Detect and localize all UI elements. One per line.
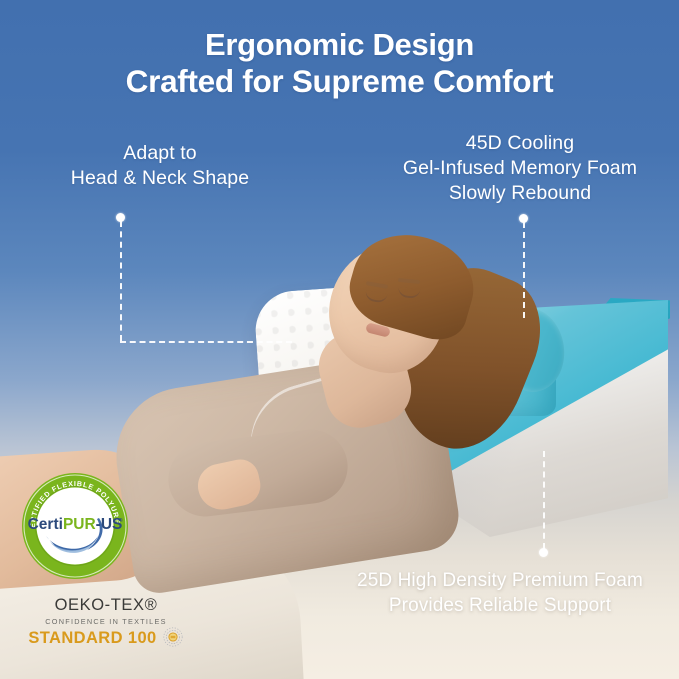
callout-cooling-gel-foam: 45D Cooling Gel-Infused Memory Foam Slow… — [372, 131, 668, 206]
headline-line-1: Ergonomic Design — [0, 26, 679, 63]
callout-right-line-3: Slowly Rebound — [372, 181, 668, 206]
callout-left-line-1: Adapt to — [30, 141, 290, 166]
leader-dot-bottom — [539, 548, 548, 557]
callout-right-line-1: 45D Cooling — [372, 131, 668, 156]
oeko-tex-standard-label: STANDARD 100 — [28, 629, 156, 648]
callout-high-density-foam: 25D High Density Premium Foam Provides R… — [330, 568, 670, 618]
oeko-tex-title: OEKO-TEX® — [26, 596, 186, 615]
oeko-tex-standard-row: STANDARD 100 — [26, 626, 186, 648]
callout-bottom-line-1: 25D High Density Premium Foam — [330, 568, 670, 593]
leader-line-left-horizontal — [120, 341, 292, 343]
leader-line-left-vertical — [120, 221, 122, 341]
leader-line-bottom-vertical — [543, 451, 545, 549]
callout-adapt-to-head-neck: Adapt to Head & Neck Shape — [30, 141, 290, 191]
headline-line-2: Crafted for Supreme Comfort — [0, 63, 679, 100]
page-title: Ergonomic Design Crafted for Supreme Com… — [0, 26, 679, 100]
leader-line-right-vertical — [523, 222, 525, 318]
product-feature-graphic: Ergonomic Design Crafted for Supreme Com… — [0, 0, 679, 679]
oeko-tex-badge: OEKO-TEX® CONFIDENCE IN TEXTILES STANDAR… — [26, 596, 186, 648]
svg-text:®: ® — [119, 517, 123, 524]
callout-right-line-2: Gel-Infused Memory Foam — [372, 156, 668, 181]
oeko-tex-flower-icon — [162, 626, 184, 648]
certipur-us-seal-icon: CONTAINS CERTIFIED FLEXIBLE POLYURETHANE… — [21, 472, 129, 580]
callout-bottom-line-2: Provides Reliable Support — [330, 593, 670, 618]
certipur-wordmark: CertiPUR-US — [28, 516, 123, 533]
callout-left-line-2: Head & Neck Shape — [30, 166, 290, 191]
certipur-us-badge: CONTAINS CERTIFIED FLEXIBLE POLYURETHANE… — [21, 472, 129, 580]
oeko-tex-subtitle: CONFIDENCE IN TEXTILES — [26, 617, 186, 626]
